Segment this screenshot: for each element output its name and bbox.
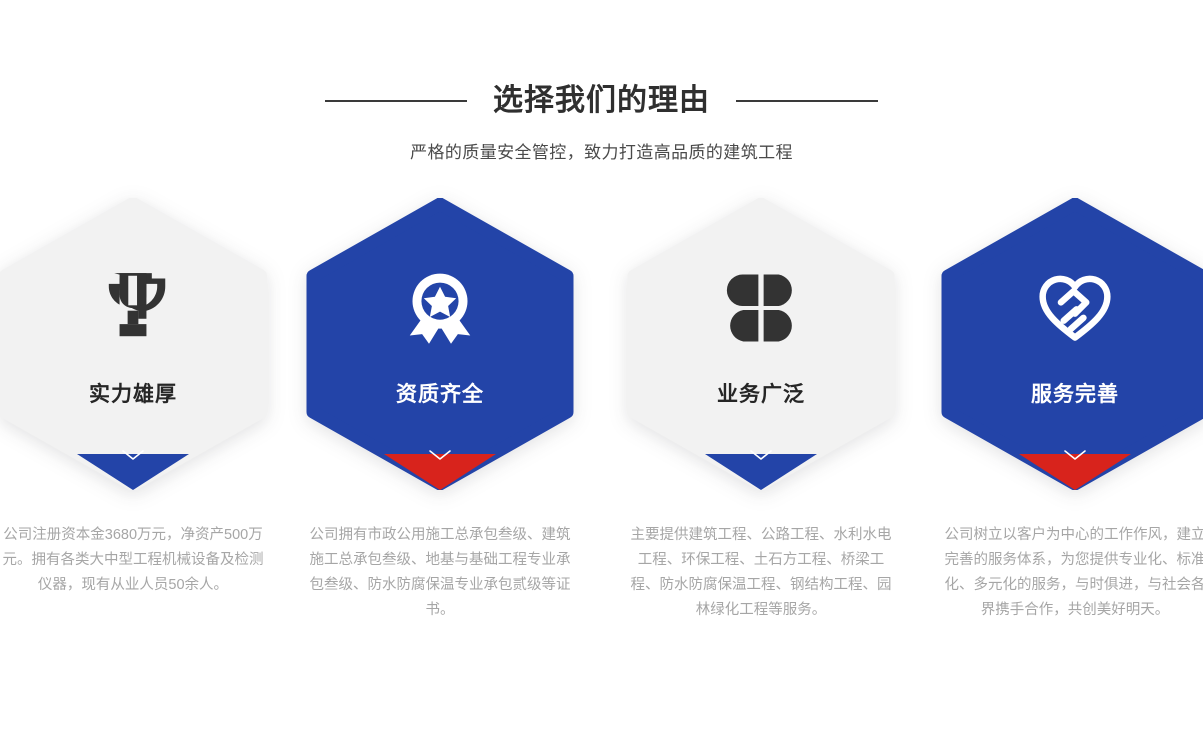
card-title: 实力雄厚 (89, 378, 177, 408)
card-description: 公司树立以客户为中心的工作作风，建立完善的服务体系，为您提供专业化、标准化、多元… (936, 523, 1203, 623)
title-row: 选择我们的理由 (0, 86, 1203, 116)
advantage-card[interactable]: 实力雄厚 公司注册资本金3680万元，净资产500万元。拥有各类大中型工程机械设… (0, 198, 272, 598)
page-title: 选择我们的理由 (493, 86, 710, 116)
advantage-card-list: 实力雄厚 公司注册资本金3680万元，净资产500万元。拥有各类大中型工程机械设… (0, 198, 1203, 698)
section-header: 选择我们的理由 严格的质量安全管控，致力打造高品质的建筑工程 (0, 0, 1203, 163)
chevron-down-icon (748, 448, 774, 462)
hexagon-content: 业务广泛 (622, 198, 900, 490)
title-rule-left (325, 100, 467, 102)
hexagon-badge[interactable]: 服务完善 (936, 198, 1203, 490)
card-title: 资质齐全 (396, 378, 484, 408)
hexagon-content: 服务完善 (936, 198, 1203, 490)
card-description: 公司注册资本金3680万元，净资产500万元。拥有各类大中型工程机械设备及检测仪… (0, 523, 272, 598)
advantage-card[interactable]: 业务广泛 主要提供建筑工程、公路工程、水利水电工程、环保工程、土石方工程、桥梁工… (622, 198, 900, 623)
hexagon-badge[interactable]: 实力雄厚 (0, 198, 272, 490)
clover-icon (713, 260, 809, 356)
advantage-card[interactable]: 服务完善 公司树立以客户为中心的工作作风，建立完善的服务体系，为您提供专业化、标… (936, 198, 1203, 623)
chevron-down-icon (427, 448, 453, 462)
handshake-heart-icon (1027, 260, 1123, 356)
hexagon-badge[interactable]: 资质齐全 (301, 198, 579, 490)
advantage-card[interactable]: 资质齐全 公司拥有市政公用施工总承包叁级、建筑施工总承包叁级、地基与基础工程专业… (301, 198, 579, 623)
trophy-icon (85, 260, 181, 356)
card-title: 业务广泛 (717, 378, 805, 408)
advantages-section: 选择我们的理由 严格的质量安全管控，致力打造高品质的建筑工程 (0, 0, 1203, 736)
chevron-down-icon (1062, 448, 1088, 462)
hexagon-badge[interactable]: 业务广泛 (622, 198, 900, 490)
card-description: 主要提供建筑工程、公路工程、水利水电工程、环保工程、土石方工程、桥梁工程、防水防… (622, 523, 900, 623)
chevron-down-icon (120, 448, 146, 462)
card-title: 服务完善 (1031, 378, 1119, 408)
section-subtitle: 严格的质量安全管控，致力打造高品质的建筑工程 (0, 138, 1203, 163)
hexagon-content: 资质齐全 (301, 198, 579, 490)
card-description: 公司拥有市政公用施工总承包叁级、建筑施工总承包叁级、地基与基础工程专业承包叁级、… (301, 523, 579, 623)
hexagon-content: 实力雄厚 (0, 198, 272, 490)
award-medal-icon (392, 260, 488, 356)
title-rule-right (736, 100, 878, 102)
